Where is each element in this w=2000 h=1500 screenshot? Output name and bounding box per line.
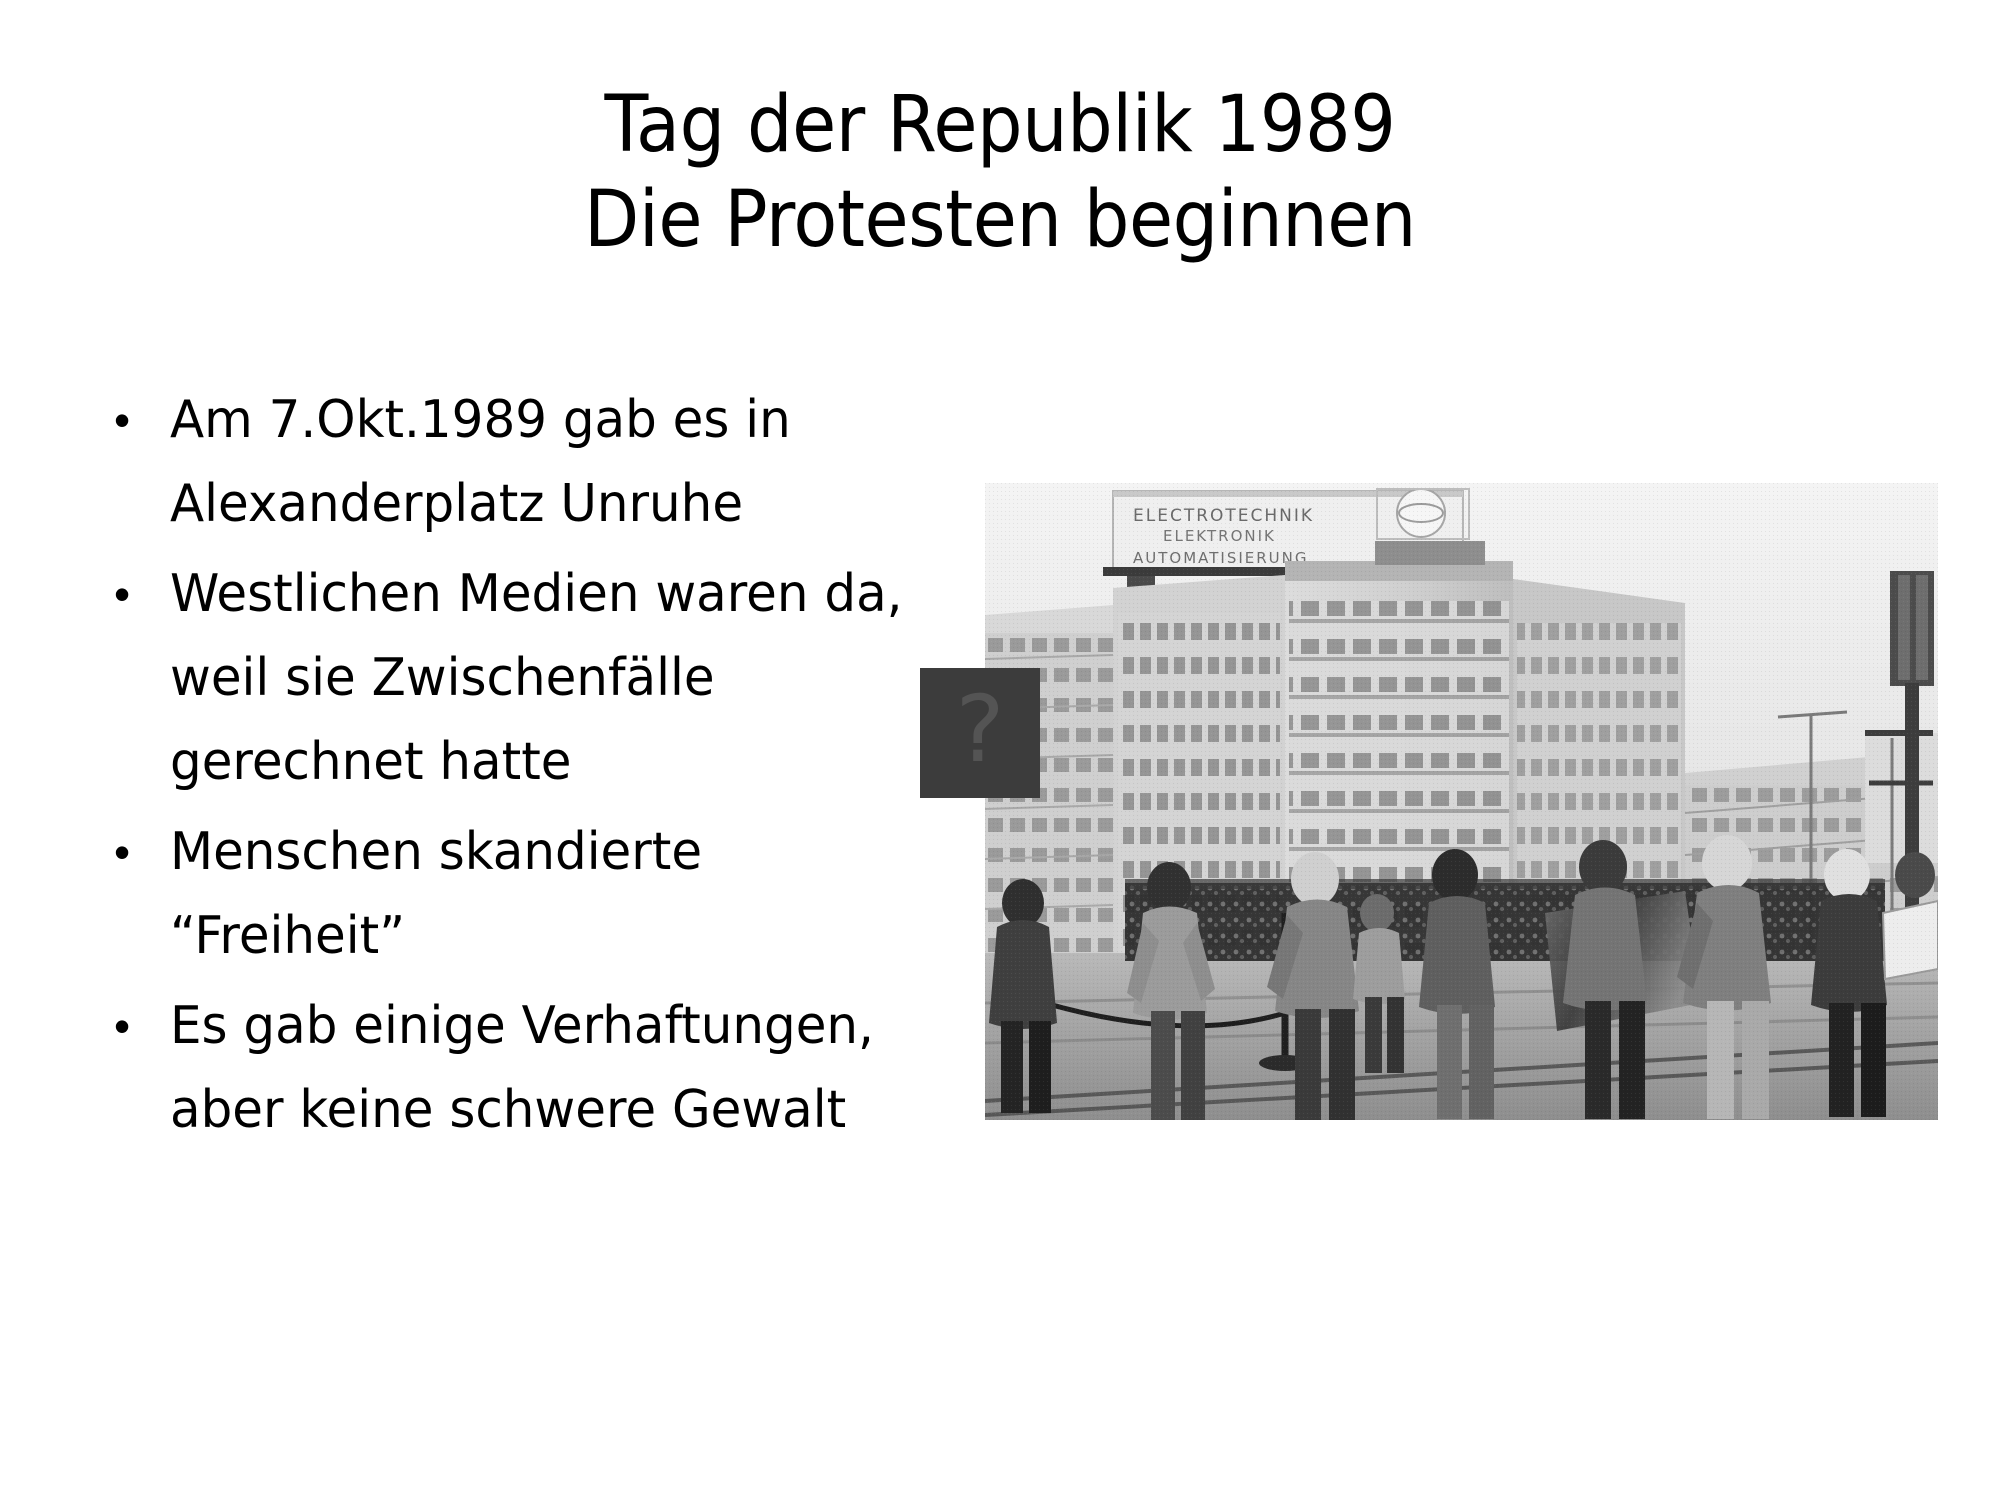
slide-canvas: Tag der Republik 1989 Die Protesten begi… bbox=[0, 0, 2000, 1500]
list-item: • Es gab einige Verhaftungen, aber keine… bbox=[108, 984, 968, 1152]
bullet-point-icon: • bbox=[108, 984, 170, 1068]
list-item-label: Menschen skandierte “Freiheit” bbox=[170, 810, 936, 978]
list-item-label: Es gab einige Verhaftungen, aber keine s… bbox=[170, 984, 936, 1152]
missing-image-placeholder: ? bbox=[920, 668, 1040, 798]
title-line-2: Die Protesten beginnen bbox=[80, 173, 1920, 268]
question-mark-icon: ? bbox=[956, 684, 1005, 776]
title-line-1: Tag der Republik 1989 bbox=[80, 78, 1920, 173]
bullet-point-icon: • bbox=[108, 378, 170, 462]
list-item: • Menschen skandierte “Freiheit” bbox=[108, 810, 968, 978]
bullet-list: • Am 7.Okt.1989 gab es in Alexanderplatz… bbox=[108, 378, 968, 1158]
list-item-label: Westlichen Medien waren da, weil sie Zwi… bbox=[170, 552, 936, 804]
bullet-point-icon: • bbox=[108, 810, 170, 894]
list-item: • Am 7.Okt.1989 gab es in Alexanderplatz… bbox=[108, 378, 968, 546]
list-item: • Westlichen Medien waren da, weil sie Z… bbox=[108, 552, 968, 804]
protest-photograph-graphic: ELECTROTECHNIK ELEKTRONIK AUTOMATISIERUN… bbox=[985, 483, 1938, 1120]
slide-title: Tag der Republik 1989 Die Protesten begi… bbox=[0, 78, 2000, 268]
bullet-point-icon: • bbox=[108, 552, 170, 636]
protest-photograph: ELECTROTECHNIK ELEKTRONIK AUTOMATISIERUN… bbox=[985, 483, 1938, 1120]
list-item-label: Am 7.Okt.1989 gab es in Alexanderplatz U… bbox=[170, 378, 936, 546]
